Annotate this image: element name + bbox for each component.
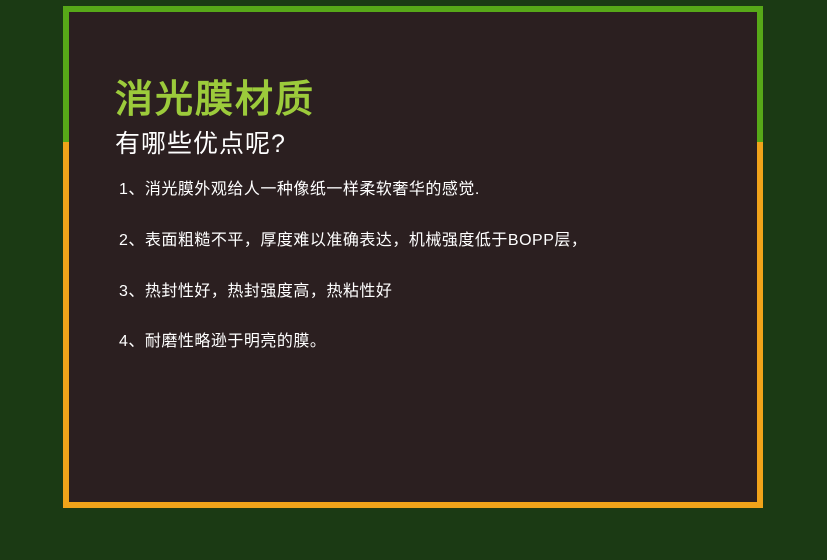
slide-canvas: 消光膜材质 有哪些优点呢? 1、消光膜外观给人一种像纸一样柔软奢华的感觉. 2、… (0, 0, 827, 560)
list-item: 1、消光膜外观给人一种像纸一样柔软奢华的感觉. (119, 180, 739, 201)
bullet-list: 1、消光膜外观给人一种像纸一样柔软奢华的感觉. 2、表面粗糙不平，厚度难以准确表… (119, 180, 739, 383)
page-subtitle: 有哪些优点呢? (115, 124, 286, 160)
list-item: 3、热封性好，热封强度高，热粘性好 (119, 282, 739, 303)
slide-frame: 消光膜材质 有哪些优点呢? 1、消光膜外观给人一种像纸一样柔软奢华的感觉. 2、… (63, 6, 763, 508)
slide-content-panel: 消光膜材质 有哪些优点呢? 1、消光膜外观给人一种像纸一样柔软奢华的感觉. 2、… (69, 12, 757, 502)
list-item: 4、耐磨性略逊于明亮的膜。 (119, 332, 739, 353)
page-title: 消光膜材质 (115, 68, 315, 123)
list-item: 2、表面粗糙不平，厚度难以准确表达，机械强度低于BOPP层， (119, 231, 739, 252)
